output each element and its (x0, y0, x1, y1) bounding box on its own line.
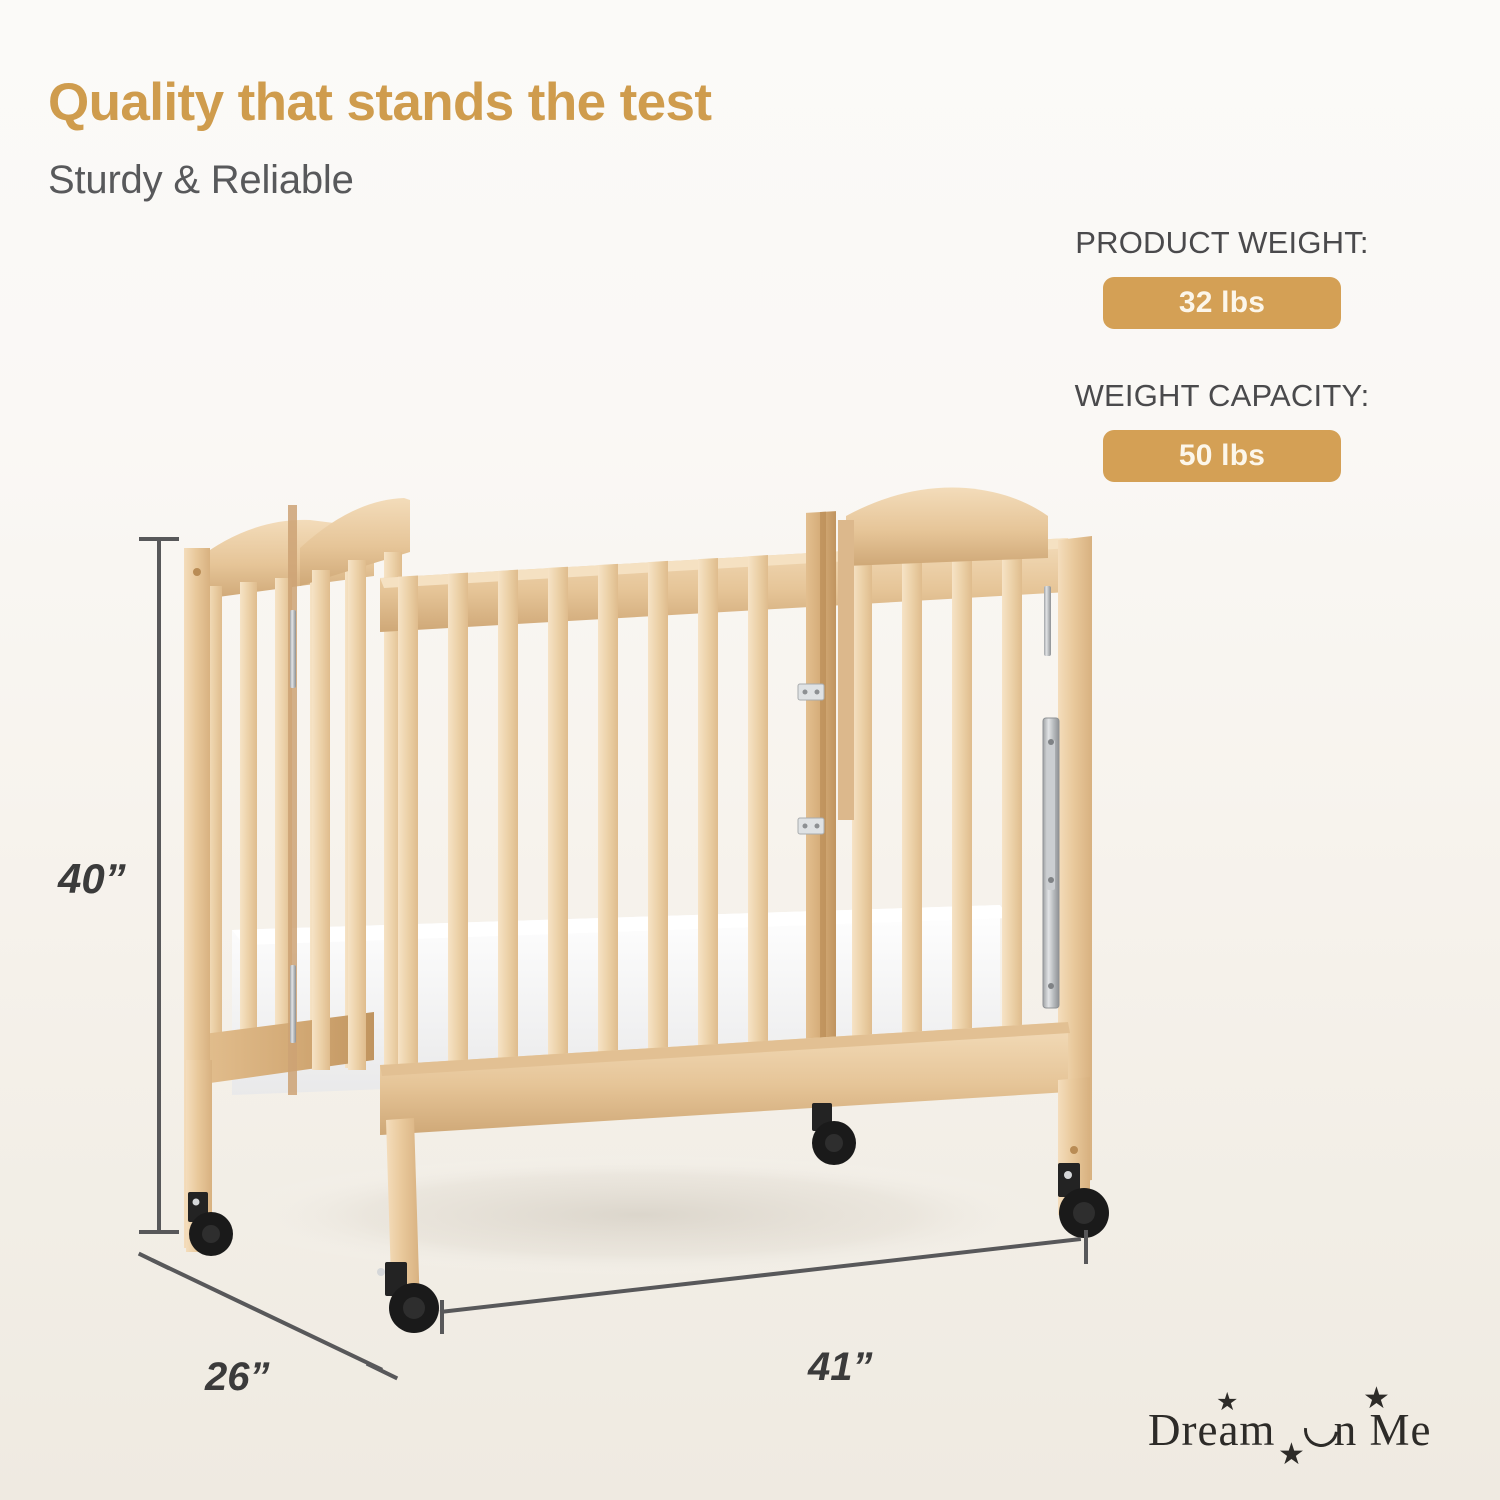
left-panel-arch (196, 520, 374, 600)
left-fold-hinge-plate-lower (290, 965, 296, 1043)
height-dimension-cap-bottom (139, 1230, 179, 1234)
left-front-leg (186, 1060, 212, 1252)
spec-label-product-weight: PRODUCT WEIGHT: (1022, 225, 1422, 261)
star-icon-right: ★ (1363, 1384, 1390, 1414)
front-top-rail (380, 538, 1068, 632)
width-dimension-label: 41” (808, 1345, 873, 1390)
left-corner-post (184, 548, 210, 1248)
front-bottom-rail-top-edge (380, 1022, 1070, 1076)
leg-screw-right (1070, 1146, 1078, 1154)
star-icon-bottom: ★ (1278, 1440, 1305, 1470)
right-corner-post (1058, 536, 1092, 1184)
height-dimension-label: 40” (58, 855, 126, 903)
center-hinge-bracket-lower (798, 818, 824, 834)
page-subheadline: Sturdy & Reliable (48, 158, 354, 203)
center-fold-seam (820, 512, 826, 1052)
caster-back-left[interactable] (188, 1192, 233, 1256)
center-fold-post (806, 511, 836, 1053)
height-dimension-cap-top (139, 537, 179, 541)
caster-front-left[interactable] (377, 1262, 439, 1333)
folding-mechanism-hardware (1043, 718, 1059, 1008)
crib-mattress (232, 905, 1000, 1095)
front-bottom-rail (380, 1022, 1068, 1135)
spec-weight-capacity: WEIGHT CAPACITY: 50 lbs (1022, 378, 1422, 482)
left-panel-lower-rail (196, 1012, 374, 1085)
page-headline: Quality that stands the test (48, 72, 711, 133)
left-wing-arch (300, 498, 410, 586)
upper-slide-track (1044, 586, 1051, 656)
left-panel-slats (205, 570, 362, 1068)
depth-dimension-tick-end (366, 1362, 398, 1380)
caster-back-right[interactable] (812, 1103, 856, 1165)
brand-word-dream: Dream (1148, 1405, 1275, 1455)
mattress-top-face (232, 905, 1010, 945)
caster-front-right[interactable] (1058, 1163, 1109, 1238)
width-dimension-line (440, 1237, 1081, 1314)
spec-label-weight-capacity: WEIGHT CAPACITY: (1022, 378, 1422, 414)
spec-value-weight-capacity: 50 lbs (1103, 430, 1341, 482)
width-dimension-tick-start (440, 1300, 444, 1334)
back-right-upright (838, 520, 854, 820)
front-panel-slats (398, 540, 1022, 1097)
center-hinge-bracket-upper (798, 684, 824, 700)
brand-logo: Dream n Me ★ ★ ★ (1148, 1404, 1448, 1474)
left-fold-hinge-plate (290, 610, 296, 688)
star-icon-left: ★ (1216, 1390, 1238, 1415)
front-left-leg (386, 1118, 420, 1312)
left-fold-seam (288, 505, 297, 1095)
height-dimension-line (157, 537, 161, 1234)
width-dimension-tick-end (1084, 1230, 1088, 1264)
depth-dimension-tick-start (138, 1252, 170, 1270)
left-wing-slats (312, 552, 402, 1070)
spec-value-product-weight: 32 lbs (1103, 277, 1341, 329)
floor-shadow (220, 1153, 1060, 1277)
front-right-leg (1058, 1077, 1090, 1215)
back-panel-arch (846, 488, 1048, 566)
left-post-screw (193, 568, 201, 576)
depth-dimension-label: 26” (205, 1355, 270, 1400)
front-top-rail-edge (380, 538, 1072, 588)
spec-product-weight: PRODUCT WEIGHT: 32 lbs (1022, 225, 1422, 329)
